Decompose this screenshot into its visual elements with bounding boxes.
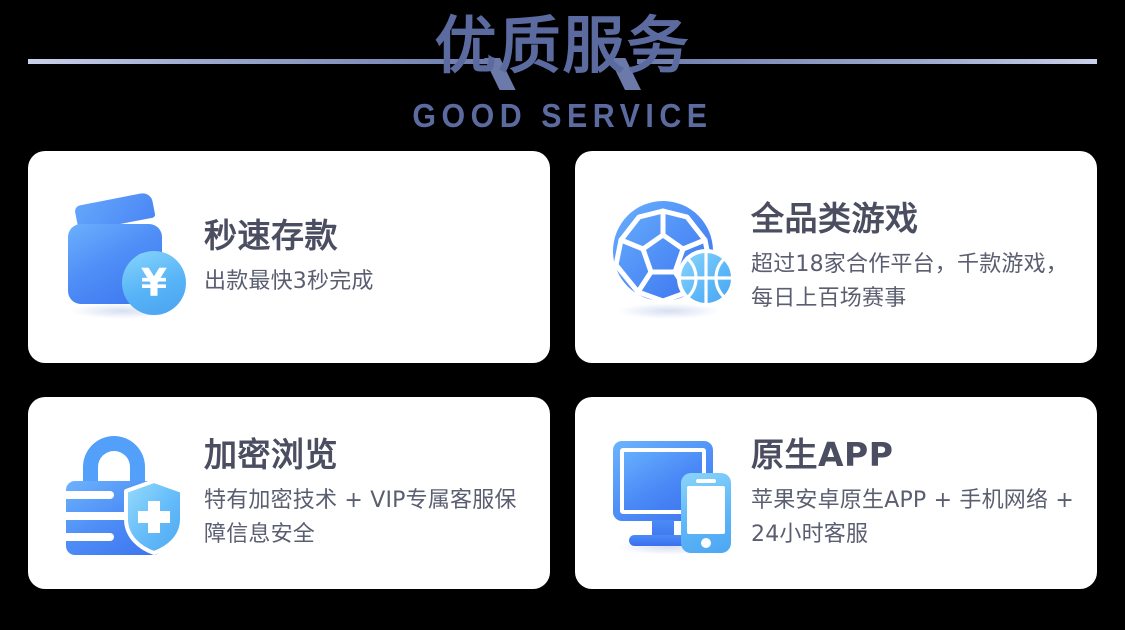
- yen-symbol: ¥: [122, 251, 186, 315]
- wallet-yen-icon: ¥: [60, 191, 192, 323]
- card-description: 特有加密技术 + VIP专属客服保障信息安全: [204, 484, 536, 552]
- card-text-block: 全品类游戏 超过18家合作平台，千款游戏，每日上百场赛事: [739, 199, 1097, 316]
- card-title: 全品类游戏: [751, 199, 1083, 239]
- lock-shield-icon: [60, 427, 192, 559]
- phone-speaker-icon: [696, 479, 716, 483]
- feature-card-encryption[interactable]: 加密浏览 特有加密技术 + VIP专属客服保障信息安全: [28, 397, 550, 589]
- feature-card-native-app[interactable]: 原生APP 苹果安卓原生APP + 手机网络 + 24小时客服: [575, 397, 1097, 589]
- card-description: 出款最快3秒完成: [204, 265, 534, 299]
- soccer-basketball-icon: [607, 191, 739, 323]
- monitor-phone-icon: [607, 427, 739, 559]
- card-text-block: 加密浏览 特有加密技术 + VIP专属客服保障信息安全: [192, 435, 550, 552]
- lock-slot-icon: [66, 512, 128, 520]
- card-title: 秒速存款: [204, 216, 536, 256]
- card-title: 原生APP: [751, 435, 1083, 475]
- good-service-panel: 优质服务 GOOD SERVICE ¥ 秒速存款 出款最快3秒完成: [0, 0, 1125, 630]
- card-description: 超过18家合作平台，千款游戏，每日上百场赛事: [751, 248, 1083, 316]
- feature-card-games[interactable]: 全品类游戏 超过18家合作平台，千款游戏，每日上百场赛事: [575, 151, 1097, 363]
- feature-card-grid: ¥ 秒速存款 出款最快3秒完成: [28, 151, 1097, 589]
- page-subtitle: GOOD SERVICE: [45, 96, 1080, 136]
- shield-cross-icon: [122, 479, 186, 555]
- phone-screen-icon: [687, 486, 725, 534]
- lock-slot-icon: [66, 491, 114, 499]
- card-text-block: 原生APP 苹果安卓原生APP + 手机网络 + 24小时客服: [739, 435, 1097, 552]
- card-description: 苹果安卓原生APP + 手机网络 + 24小时客服: [751, 484, 1083, 552]
- lock-slot-icon: [66, 533, 114, 541]
- card-text-block: 秒速存款 出款最快3秒完成: [192, 216, 550, 299]
- basketball-icon: [677, 249, 735, 307]
- card-title: 加密浏览: [204, 435, 536, 475]
- feature-card-deposit[interactable]: ¥ 秒速存款 出款最快3秒完成: [28, 151, 550, 363]
- page-title: 优质服务: [0, 8, 1125, 84]
- phone-home-button-icon: [701, 538, 711, 548]
- header: 优质服务 GOOD SERVICE: [0, 0, 1125, 150]
